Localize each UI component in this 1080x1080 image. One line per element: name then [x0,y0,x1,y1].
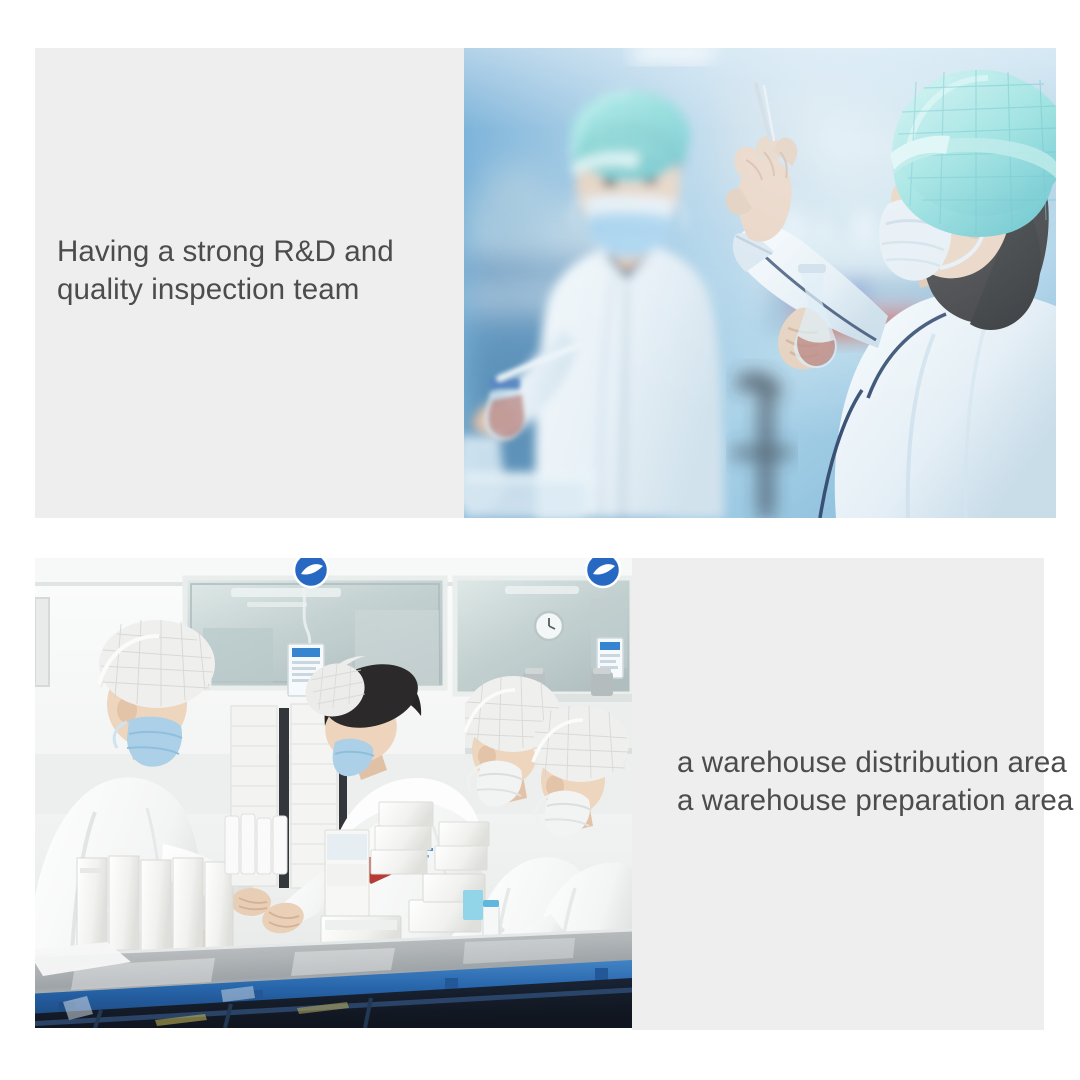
page-root: Having a strong R&D and quality inspecti… [0,0,1080,1080]
bottom-section: a warehouse distribution area a warehous… [35,558,1044,1030]
bottom-caption-panel: a warehouse distribution area a warehous… [632,558,1044,1030]
warehouse-packaging-area-photo [35,558,632,1028]
warehouse-photo-svg [35,558,632,1028]
top-section: Having a strong R&D and quality inspecti… [35,48,1056,518]
top-caption: Having a strong R&D and quality inspecti… [57,233,457,309]
bottom-caption-line-2: a warehouse preparation area [677,782,1077,820]
bottom-caption: a warehouse distribution area a warehous… [677,744,1077,820]
lab-photo-svg [464,48,1056,518]
top-caption-line-1: Having a strong R&D and [57,233,457,271]
top-caption-line-2: quality inspection team [57,271,457,309]
lab-quality-inspection-photo [464,48,1056,518]
top-caption-panel: Having a strong R&D and quality inspecti… [35,48,464,518]
bottom-caption-line-1: a warehouse distribution area [677,744,1077,782]
